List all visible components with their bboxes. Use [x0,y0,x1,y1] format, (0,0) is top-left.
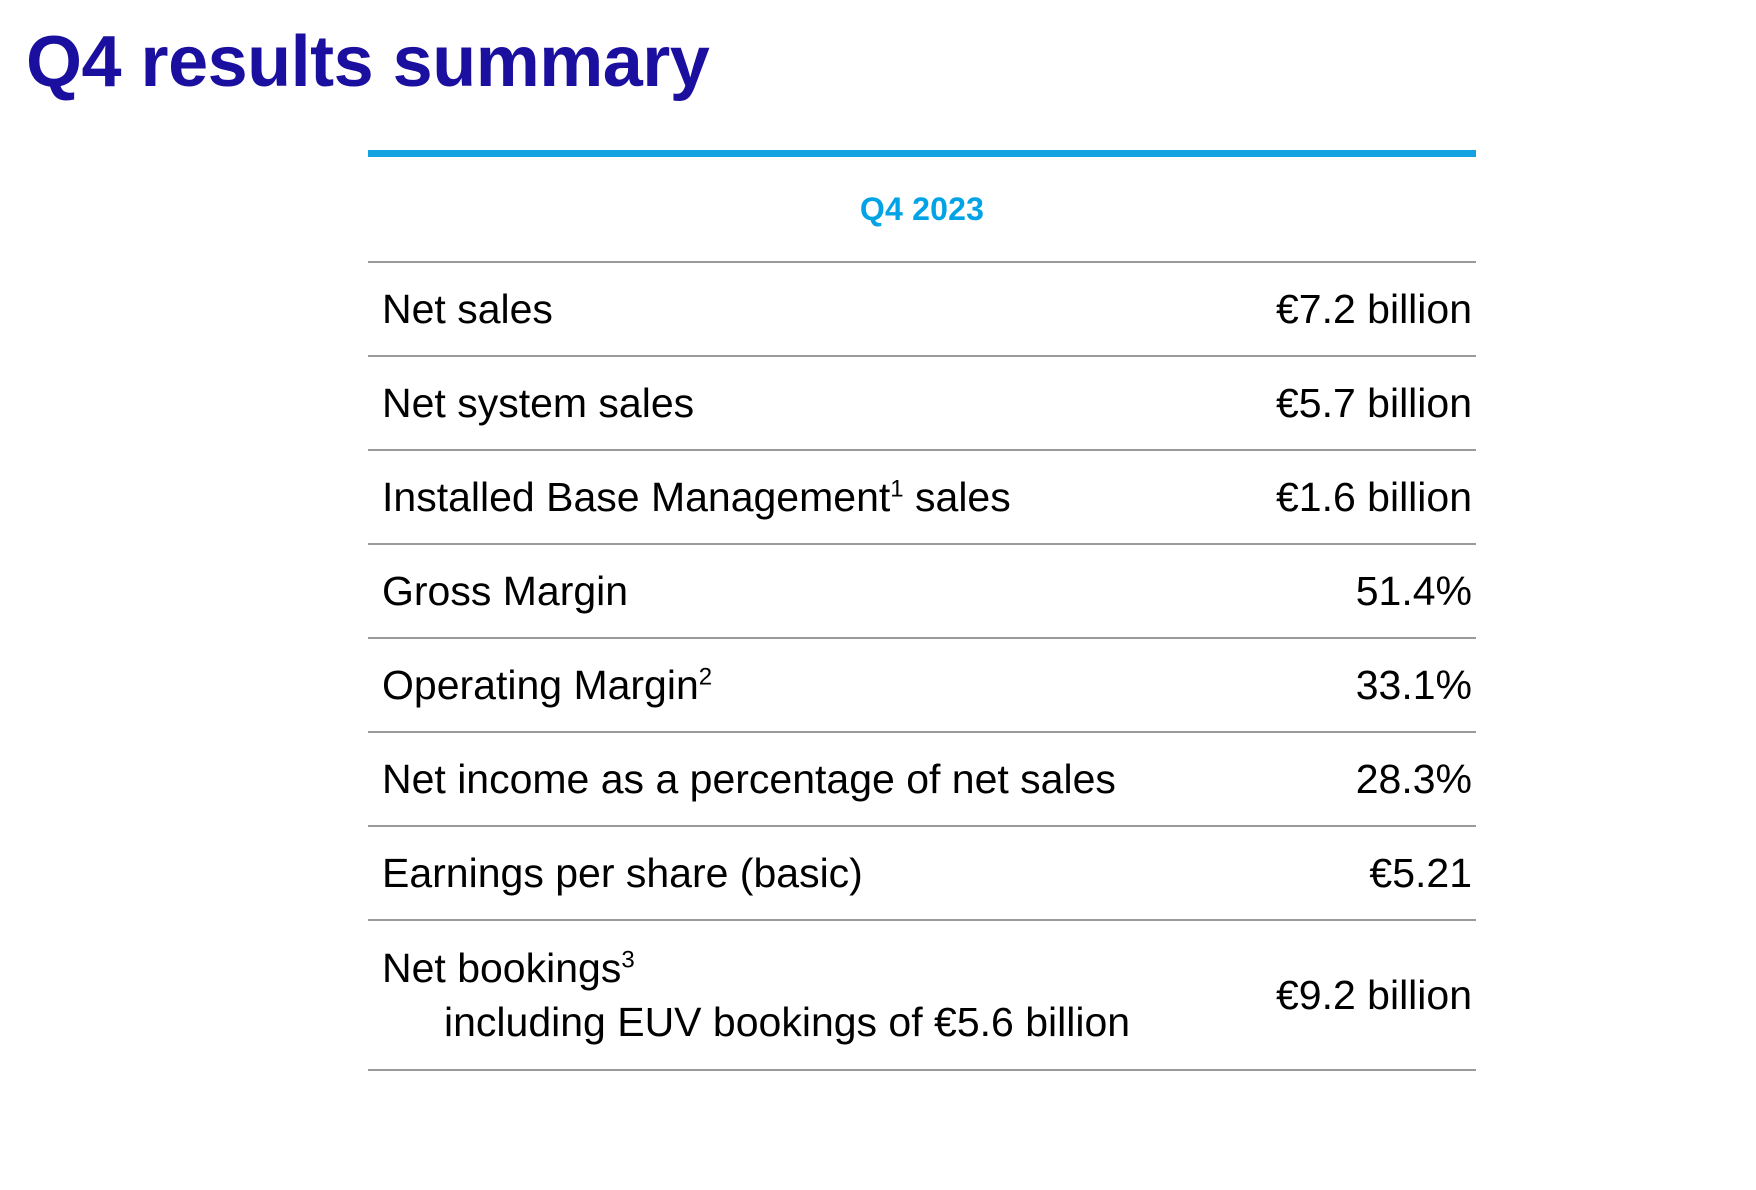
footnote-marker-2: 2 [699,663,712,690]
row-label: Operating Margin2 [382,663,712,707]
row-separator [368,1069,1476,1071]
table-row: Gross Margin 51.4% [368,545,1476,637]
row-label-text: Net sales [382,286,553,332]
table-header-row: Q4 2023 [368,157,1476,261]
row-label: Net system sales [382,381,694,425]
row-label: Earnings per share (basic) [382,851,863,895]
row-value: 33.1% [1356,662,1476,709]
accent-rule [368,150,1476,157]
row-value: €1.6 billion [1276,474,1476,521]
footnote-marker-1: 1 [890,475,903,502]
table-row: Net bookings3including EUV bookings of €… [368,921,1476,1069]
row-label: Net sales [382,287,553,331]
table-row: Net sales €7.2 billion [368,263,1476,355]
row-label-text: Gross Margin [382,568,628,614]
table-row: Net system sales €5.7 billion [368,357,1476,449]
row-label-suffix: sales [904,474,1011,520]
table-row: Installed Base Management1 sales €1.6 bi… [368,451,1476,543]
row-label-text: Earnings per share (basic) [382,850,863,896]
row-label: Net income as a percentage of net sales [382,757,1116,801]
results-table: Q4 2023 Net sales €7.2 billion Net syste… [368,150,1476,1071]
row-label-text: Net income as a percentage of net sales [382,756,1116,802]
row-value: €5.7 billion [1276,380,1476,427]
row-value: €9.2 billion [1276,972,1476,1019]
row-value: 28.3% [1356,756,1476,803]
slide-root: Q4 results summary Q4 2023 Net sales €7.… [0,0,1756,1190]
row-label-text: Operating Margin [382,662,699,708]
row-value: €5.21 [1369,850,1476,897]
row-sublabel: including EUV bookings of €5.6 billion [382,1000,1130,1044]
row-label: Gross Margin [382,569,628,613]
row-label-text: Installed Base Management [382,474,890,520]
row-label: Net bookings3including EUV bookings of €… [382,946,1130,1045]
row-label: Installed Base Management1 sales [382,475,1011,519]
page-title: Q4 results summary [26,26,709,98]
table-row: Earnings per share (basic) €5.21 [368,827,1476,919]
row-label-text: Net bookings [382,945,621,991]
row-value: €7.2 billion [1276,286,1476,333]
row-label-text: Net system sales [382,380,694,426]
row-value: 51.4% [1356,568,1476,615]
footnote-marker-3: 3 [621,946,634,973]
column-header-q4-2023: Q4 2023 [860,191,984,228]
table-row: Operating Margin2 33.1% [368,639,1476,731]
table-row: Net income as a percentage of net sales … [368,733,1476,825]
